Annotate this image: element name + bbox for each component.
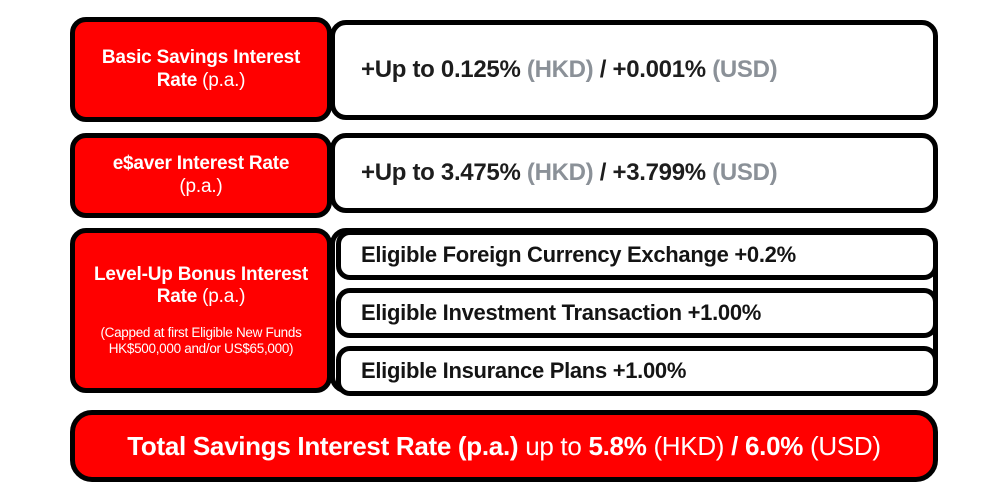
total-connector: up to	[525, 431, 581, 461]
esaver-label-main: e$aver Interest Rate	[113, 153, 290, 174]
total-rate-hkd: 5.8%	[588, 431, 646, 461]
total-currency-usd: (USD)	[810, 431, 881, 461]
esaver-rate-usd: +3.799%	[612, 159, 705, 186]
basic-savings-separator: /	[600, 56, 606, 83]
esaver-currency-usd: (USD)	[712, 159, 777, 186]
levelup-item-insurance-plans: Eligible Insurance Plans +1.00%	[336, 346, 938, 396]
basic-savings-value-text: +Up to 0.125% (HKD) / +0.001% (USD)	[361, 56, 777, 84]
basic-savings-rate-hkd: +Up to 0.125%	[361, 56, 521, 83]
esaver-label-box: e$aver Interest Rate(p.a.)	[70, 133, 332, 218]
levelup-item-2-text: Eligible Investment Transaction +1.00%	[361, 300, 761, 326]
basic-savings-rate-usd: +0.001%	[612, 56, 705, 83]
esaver-currency-hkd: (HKD)	[527, 159, 593, 186]
basic-savings-label-box: Basic Savings Interest Rate (p.a.)	[70, 17, 332, 122]
levelup-item-investment-transaction: Eligible Investment Transaction +1.00%	[336, 288, 938, 338]
levelup-label-cap-note: (Capped at first Eligible New FundsHK$50…	[100, 325, 301, 357]
basic-savings-label-title: Basic Savings Interest Rate (p.a.)	[83, 47, 319, 92]
total-currency-hkd: (HKD)	[653, 431, 724, 461]
levelup-item-foreign-currency-exchange: Eligible Foreign Currency Exchange +0.2%	[336, 230, 938, 280]
esaver-label-title: e$aver Interest Rate(p.a.)	[113, 153, 290, 198]
levelup-label-pa: (p.a.)	[197, 286, 245, 307]
levelup-item-3-text: Eligible Insurance Plans +1.00%	[361, 358, 686, 384]
levelup-label-title: Level-Up Bonus Interest Rate (p.a.)	[83, 264, 319, 309]
esaver-rate-hkd: +Up to 3.475%	[361, 159, 521, 186]
total-separator: /	[731, 431, 738, 461]
basic-savings-currency-hkd: (HKD)	[527, 56, 593, 83]
levelup-cap-line-2: HK$500,000 and/or US$65,000)	[109, 341, 294, 356]
esaver-label-pa: (p.a.)	[179, 176, 222, 197]
levelup-item-1-text: Eligible Foreign Currency Exchange +0.2%	[361, 242, 796, 268]
basic-savings-currency-usd: (USD)	[712, 56, 777, 83]
esaver-value-box: +Up to 3.475% (HKD) / +3.799% (USD)	[330, 133, 938, 213]
esaver-separator: /	[600, 159, 606, 186]
basic-savings-label-pa: (p.a.)	[197, 70, 245, 91]
total-title: Total Savings Interest Rate (p.a.)	[127, 431, 518, 461]
interest-rate-infographic: +Up to 0.125% (HKD) / +0.001% (USD) Basi…	[0, 0, 1000, 500]
esaver-value-text: +Up to 3.475% (HKD) / +3.799% (USD)	[361, 159, 777, 187]
levelup-label-box: Level-Up Bonus Interest Rate (p.a.) (Cap…	[70, 228, 332, 393]
total-savings-text: Total Savings Interest Rate (p.a.) up to…	[127, 431, 880, 462]
levelup-cap-line-1: (Capped at first Eligible New Funds	[100, 325, 301, 340]
basic-savings-value-box: +Up to 0.125% (HKD) / +0.001% (USD)	[330, 20, 938, 120]
total-rate-usd: 6.0%	[745, 431, 803, 461]
total-savings-bar: Total Savings Interest Rate (p.a.) up to…	[70, 410, 938, 482]
